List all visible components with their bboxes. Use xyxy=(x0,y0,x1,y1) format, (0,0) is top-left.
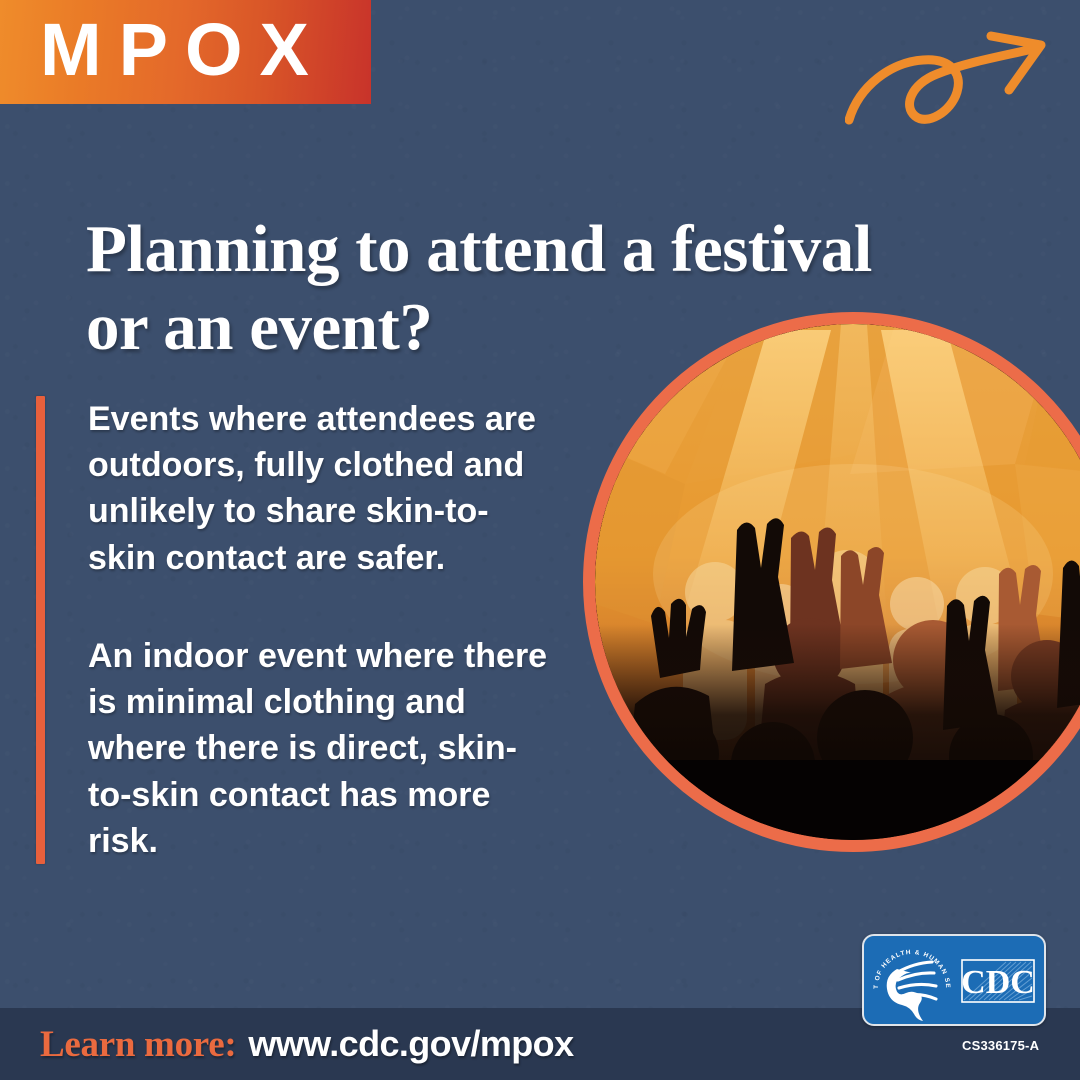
headline-line-2: or an event? xyxy=(86,289,986,367)
mpox-banner: MPOX xyxy=(0,0,371,104)
headline-line-1: Planning to attend a festival xyxy=(86,212,872,286)
publication-code: CS336175-A xyxy=(962,1038,1039,1053)
mpox-festival-poster: MPOX Planning to attend a festival or an… xyxy=(0,0,1080,1080)
paragraph-safer: Events where attendees are outdoors, ful… xyxy=(88,396,556,581)
cdc-logo: DEPARTMENT OF HEALTH & HUMAN SERVICES US… xyxy=(862,934,1046,1026)
accent-bar xyxy=(36,396,45,864)
cdc-url[interactable]: www.cdc.gov/mpox xyxy=(248,1023,573,1065)
curly-arrow-icon xyxy=(845,12,1070,137)
hhs-seal-text: DEPARTMENT OF HEALTH & HUMAN SERVICES US… xyxy=(864,936,951,989)
body-copy-text: Events where attendees are outdoors, ful… xyxy=(45,396,556,864)
page-title: Planning to attend a festival or an even… xyxy=(86,211,986,366)
cdc-logotype: CDC xyxy=(961,964,1035,1001)
mpox-wordmark: MPOX xyxy=(0,13,326,87)
body-copy-block: Events where attendees are outdoors, ful… xyxy=(36,396,556,864)
svg-text:DEPARTMENT OF HEALTH & HUMAN S: DEPARTMENT OF HEALTH & HUMAN SERVICES US… xyxy=(864,936,951,989)
paragraph-risk: An indoor event where there is minimal c… xyxy=(88,633,556,864)
learn-more-label: Learn more: xyxy=(40,1023,236,1066)
festival-crowd-photo xyxy=(583,312,1080,852)
crowd-illustration xyxy=(595,324,1080,840)
